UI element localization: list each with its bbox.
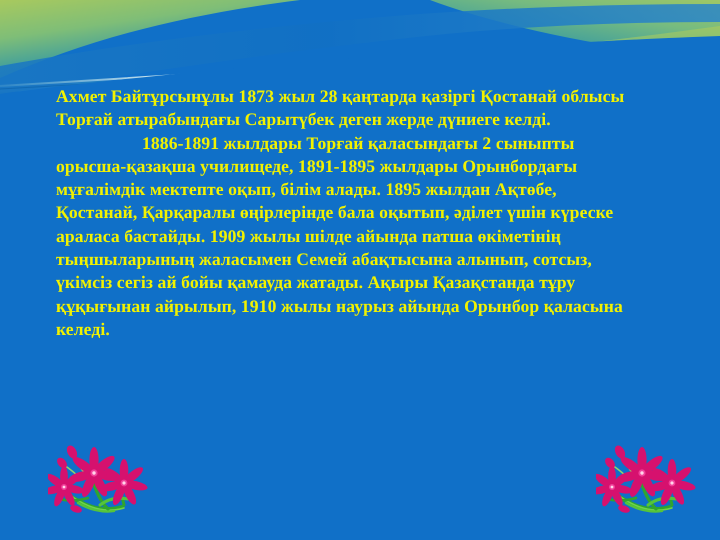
wave-highlight-line <box>0 44 720 86</box>
wave-green-right <box>430 0 720 60</box>
presentation-slide: Ахмет Байтұрсынұлы 1873 жыл 28 қаңтарда … <box>0 0 720 540</box>
paragraph-1: Ахмет Байтұрсынұлы 1873 жыл 28 қаңтарда … <box>56 85 634 132</box>
flower-cluster-right-icon <box>596 443 706 529</box>
wave-shadow-line <box>0 48 720 89</box>
flower-cluster-left-icon <box>48 443 158 529</box>
paragraph-2: 1886-1891 жылдары Торғай қаласындағы 2 с… <box>56 132 634 342</box>
wave-blue-ribbon <box>0 4 720 94</box>
paragraph-2-text: 1886-1891 жылдары Торғай қаласындағы 2 с… <box>56 133 623 339</box>
flower-blooms <box>596 447 696 508</box>
wave-green-left <box>0 0 300 78</box>
wave-green-band <box>0 26 720 92</box>
flower-blooms <box>48 447 148 508</box>
slide-body-text: Ахмет Байтұрсынұлы 1873 жыл 28 қаңтарда … <box>56 85 634 341</box>
